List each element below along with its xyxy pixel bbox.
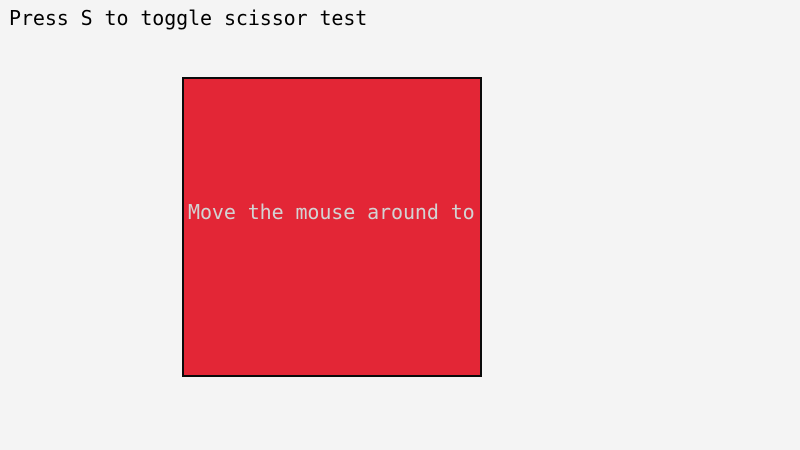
scissor-toggle-hint: Press S to toggle scissor test <box>9 7 367 29</box>
app-canvas: Press S to toggle scissor test Move the … <box>0 0 800 450</box>
scissor-rectangle[interactable]: Move the mouse around to r <box>182 77 482 377</box>
scissor-clipped-text: Move the mouse around to r <box>188 201 482 223</box>
